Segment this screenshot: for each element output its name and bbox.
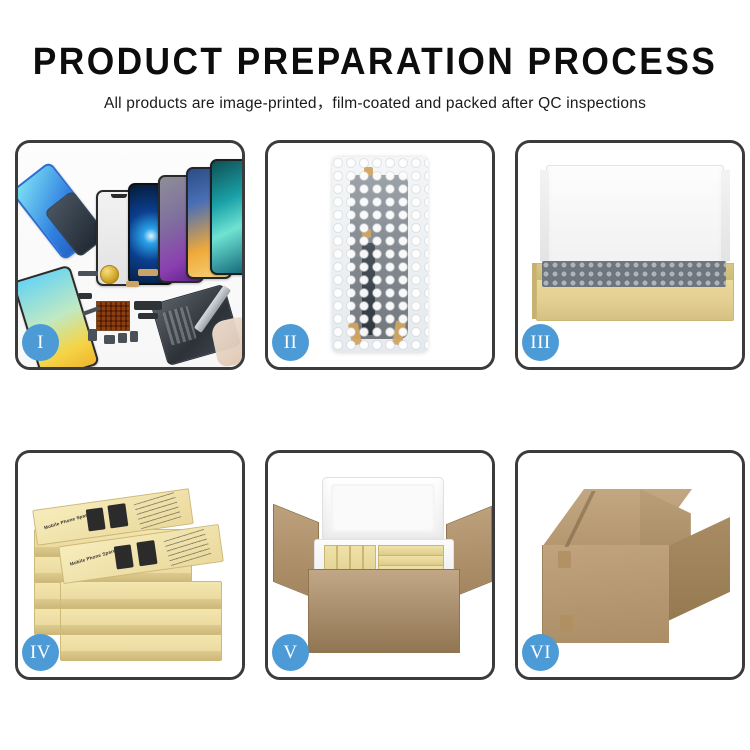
step-badge-2: II [272,324,309,361]
stacked-box [60,581,222,609]
grey-bubble-wrap-image [542,261,726,287]
step-card-5: V [265,450,495,680]
box-text-lines [134,492,182,529]
step-card-6: VI [515,450,745,680]
carton-body-image [308,569,460,653]
stacked-box [60,633,222,661]
notch-shape [111,194,127,198]
box-phone-print [86,507,106,531]
box-stack-image: Mobile Phone Spare Parts Mobile Phone Sp… [34,477,234,661]
small-part-image [104,335,115,344]
step-card-4: Mobile Phone Spare Parts Mobile Phone Sp… [15,450,245,680]
step-card-1: I [15,140,245,370]
step-badge-4: IV [22,634,59,671]
product-preparation-infographic: PRODUCT PREPARATION PROCESS All products… [0,0,750,750]
step-badge-3: III [522,324,559,361]
bubble-wrap-bag-image [332,157,428,353]
box-phone-print [114,544,134,569]
process-steps-grid: I II [15,140,745,680]
step-badge-6: VI [522,634,559,671]
page-title: PRODUCT PREPARATION PROCESS [26,40,724,84]
small-part-image [78,271,98,276]
foam-box-lid-image [322,477,444,545]
box-text-lines [164,529,212,566]
small-part-image [130,331,138,342]
box-phone-print [136,540,157,566]
copper-grid-chip-image [96,301,130,331]
header: PRODUCT PREPARATION PROCESS All products… [0,0,750,115]
carton-tape-image [558,551,571,568]
connector-image [126,281,139,287]
bubble-texture [332,157,428,353]
gold-component-image [100,265,119,284]
stacked-box [60,607,222,635]
page-subtitle: All products are image-printed，film-coat… [0,93,750,115]
white-foam-sheet-image [546,165,724,273]
teal-screen-image [210,159,242,275]
small-part-image [88,329,97,341]
box-phone-print [107,503,128,528]
step-card-3: III [515,140,745,370]
carton-tape-image [560,615,573,632]
flex-cable-image [134,301,162,310]
step-card-2: II [265,140,495,370]
flex-cable-image [78,293,92,299]
small-part-image [118,333,127,343]
step-badge-1: I [22,324,59,361]
step-badge-5: V [272,634,309,671]
connector-image [138,269,158,276]
flex-cable-image [138,313,158,319]
